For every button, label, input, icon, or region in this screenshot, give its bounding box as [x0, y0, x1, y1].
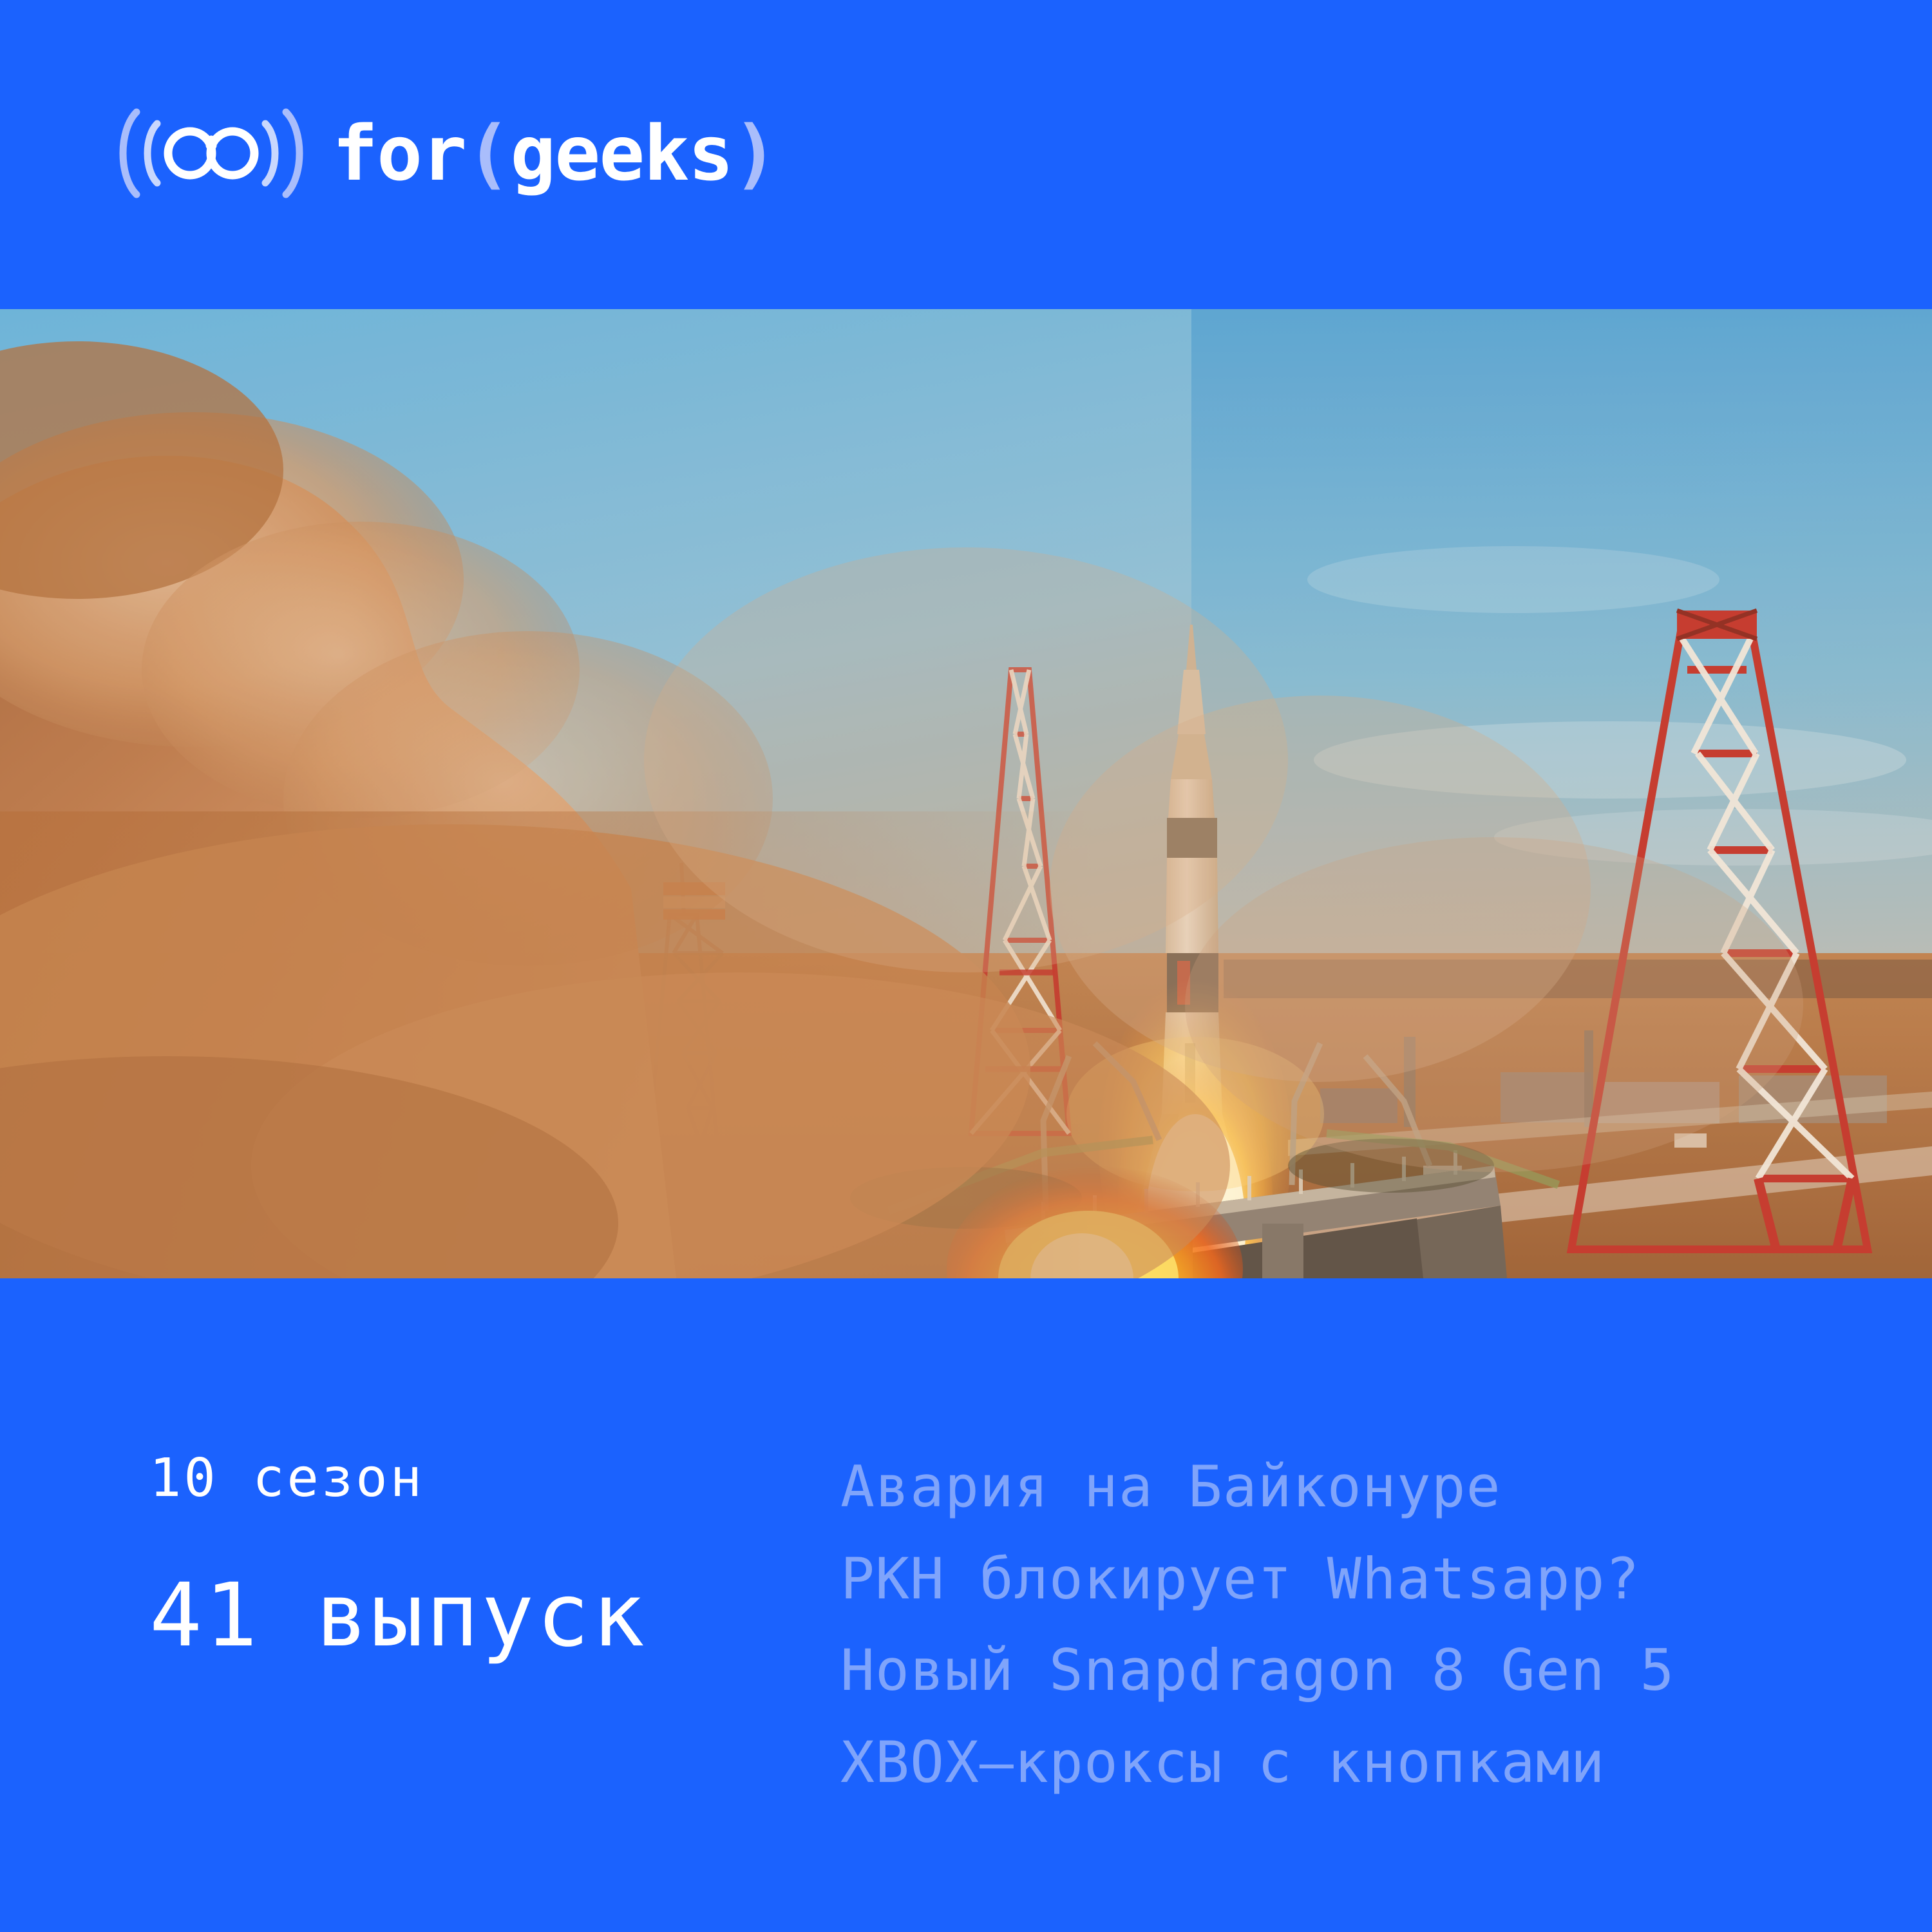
topic-item: Новый Snapdragon 8 Gen 5 — [840, 1625, 1922, 1717]
brand-paren-open: ( — [466, 115, 510, 191]
brand-word-suffix: geeks — [510, 115, 732, 191]
brand-paren-close: ) — [732, 115, 777, 191]
topic-item: Авария на Байконуре — [840, 1441, 1922, 1533]
topic-list: Авария на Байконуре РКН блокирует Whatsa… — [840, 1441, 1922, 1808]
issue-label: 41 выпуск — [149, 1572, 647, 1660]
cover-photo — [0, 309, 1932, 1278]
rocket-launch-illustration — [0, 309, 1932, 1278]
header-bar: for(geeks) — [0, 0, 1932, 309]
topic-item: XBOX–кроксы с кнопками — [840, 1717, 1922, 1809]
topic-item: РКН блокирует Whatsapp? — [840, 1533, 1922, 1625]
glasses-waves-icon — [115, 108, 308, 198]
podcast-episode-cover: for(geeks) — [0, 0, 1932, 1932]
brand-word-prefix: for — [332, 115, 466, 191]
brand-wordmark: for(geeks) — [332, 115, 777, 191]
episode-info: 10 сезон 41 выпуск — [149, 1452, 647, 1660]
season-label: 10 сезон — [149, 1452, 647, 1505]
brand-logo[interactable]: for(geeks) — [115, 108, 777, 198]
